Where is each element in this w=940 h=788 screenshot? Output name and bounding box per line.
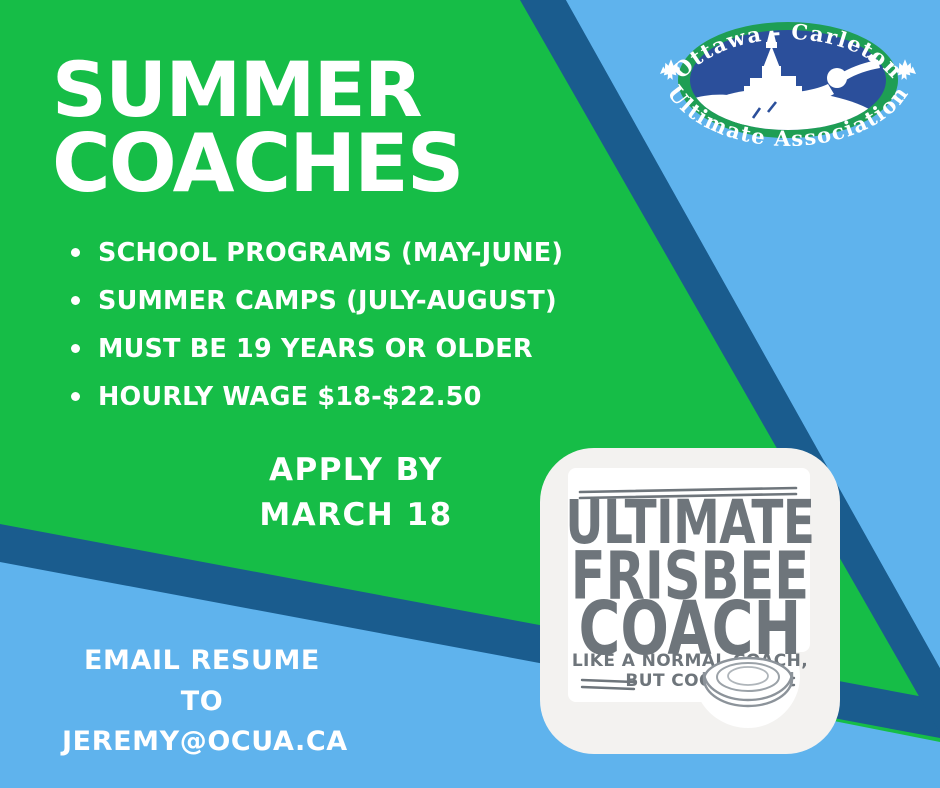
list-item: HOURLY WAGE $18-$22.50 xyxy=(66,382,563,412)
apply-deadline-line-2: MARCH 18 xyxy=(256,493,456,538)
list-item: SCHOOL PROGRAMS (MAY-JUNE) xyxy=(66,238,563,268)
ocua-logo: Ottawa - Carleton Ultimate Association xyxy=(640,8,936,154)
requirements-list: SCHOOL PROGRAMS (MAY-JUNE) SUMMER CAMPS … xyxy=(66,238,563,430)
list-item-label: HOURLY WAGE $18-$22.50 xyxy=(98,382,482,412)
list-item-label: SCHOOL PROGRAMS (MAY-JUNE) xyxy=(98,238,563,268)
list-item: SUMMER CAMPS (JULY-AUGUST) xyxy=(66,286,563,316)
coach-sticker-card: ULTIMATE FRISBEE COACH LIKE A NORMAL COA… xyxy=(540,448,840,754)
ultimate-frisbee-coach-sticker: ULTIMATE FRISBEE COACH LIKE A NORMAL COA… xyxy=(540,448,840,754)
sticker-wordmark: ULTIMATE FRISBEE COACH xyxy=(565,487,814,672)
poster: SUMMER COACHES SCHOOL PROGRAMS (MAY-JUNE… xyxy=(0,0,940,788)
email-address[interactable]: JEREMY@OCUA.CA xyxy=(62,722,342,763)
page-title: SUMMER COACHES xyxy=(52,54,462,202)
list-item-label: MUST BE 19 YEARS OR OLDER xyxy=(98,334,533,364)
email-contact: EMAIL RESUME TO JEREMY@OCUA.CA xyxy=(62,641,342,763)
list-item: MUST BE 19 YEARS OR OLDER xyxy=(66,334,563,364)
headline-line-2: COACHES xyxy=(52,126,462,202)
list-item-label: SUMMER CAMPS (JULY-AUGUST) xyxy=(98,286,557,316)
email-contact-line-1: EMAIL RESUME TO xyxy=(62,641,342,722)
apply-deadline-line-1: APPLY BY xyxy=(256,448,456,493)
frisbee-disc-icon xyxy=(704,658,792,706)
apply-deadline: APPLY BY MARCH 18 xyxy=(256,448,456,538)
